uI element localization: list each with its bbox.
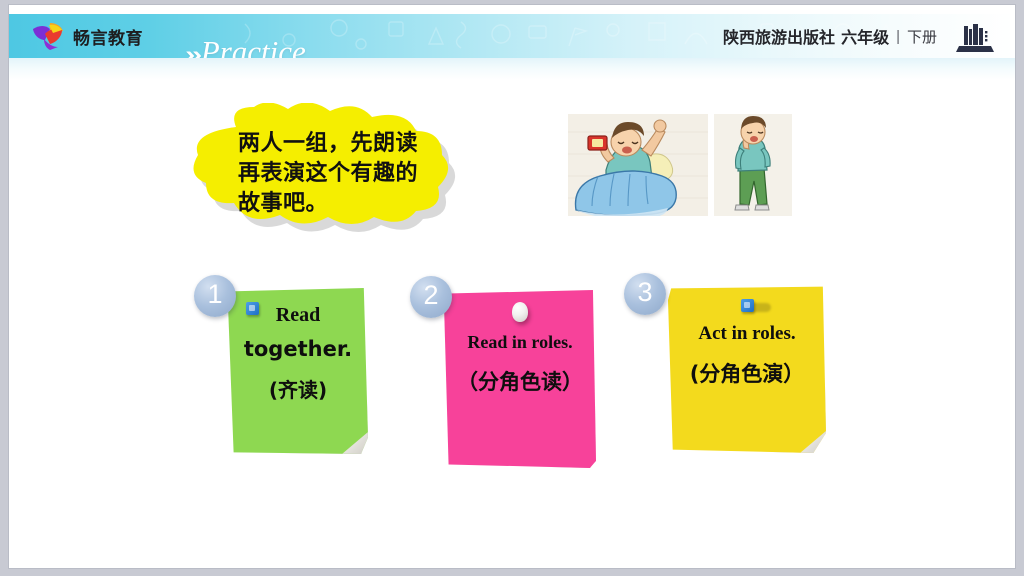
activity-2-english: Read in roles. — [467, 332, 572, 352]
step-badge-1-number: 1 — [207, 281, 222, 311]
section-title-group: » Practice — [185, 36, 306, 58]
header-fade — [9, 58, 1015, 80]
step-badge-3: 3 — [624, 273, 666, 315]
activity-1-english-line2-text: together. — [244, 337, 352, 361]
double-chevron-icon: » — [185, 43, 198, 58]
white-round-pin-icon — [512, 302, 528, 322]
divider: | — [896, 28, 900, 45]
instruction-text: 两人一组，先朗读再表演这个有趣的故事吧。 — [238, 129, 434, 219]
step-badge-1: 1 — [194, 275, 236, 317]
activity-note-3[interactable]: Act in roles. (分角色演） — [668, 285, 826, 453]
publisher-name: 陕西旅游出版社 — [723, 24, 835, 48]
section-title: Practice — [201, 36, 306, 58]
activity-note-1[interactable]: Read together. (齐读) — [228, 288, 368, 454]
slide-canvas: 畅言教育 » Practice 陕西旅游出版社 六年级 | 下册 — [0, 0, 1024, 576]
brand-logo: 畅言教育 — [31, 20, 143, 52]
activity-1-english-line2: together. — [244, 338, 352, 362]
step-badge-2: 2 — [410, 276, 452, 318]
publisher-info: 陕西旅游出版社 六年级 | 下册 — [723, 24, 937, 48]
brand-name: 畅言教育 — [73, 24, 143, 49]
boy-waking-up-in-bed-icon — [568, 114, 708, 216]
step-badge-3-number: 3 — [637, 279, 652, 309]
activity-3-english: Act in roles. — [698, 323, 795, 344]
books-icon — [955, 22, 995, 54]
bird-logo-icon — [31, 20, 65, 52]
illustration-boy-waking-up — [568, 114, 708, 216]
activity-3-chinese: (分角色演） — [690, 358, 805, 388]
volume-label: 下册 — [907, 26, 937, 47]
illustration-boy-standing — [714, 114, 792, 216]
blue-square-pin-icon — [246, 302, 259, 315]
slide-page — [9, 5, 1015, 568]
blue-square-pin-icon — [741, 299, 754, 312]
activity-2-chinese: （分角色读） — [457, 366, 583, 396]
instruction-speech-bubble: 两人一组，先朗读再表演这个有趣的故事吧。 — [176, 103, 528, 238]
activity-note-2[interactable]: Read in roles. （分角色读） — [444, 290, 596, 468]
activity-1-chinese: (齐读) — [269, 374, 327, 403]
activity-1-english-line1: Read — [276, 304, 320, 326]
grade-label: 六年级 — [841, 24, 889, 48]
boy-standing-yawning-icon — [714, 114, 792, 216]
step-badge-2-number: 2 — [423, 282, 438, 312]
slide-header: 畅言教育 » Practice 陕西旅游出版社 六年级 | 下册 — [9, 14, 1015, 58]
